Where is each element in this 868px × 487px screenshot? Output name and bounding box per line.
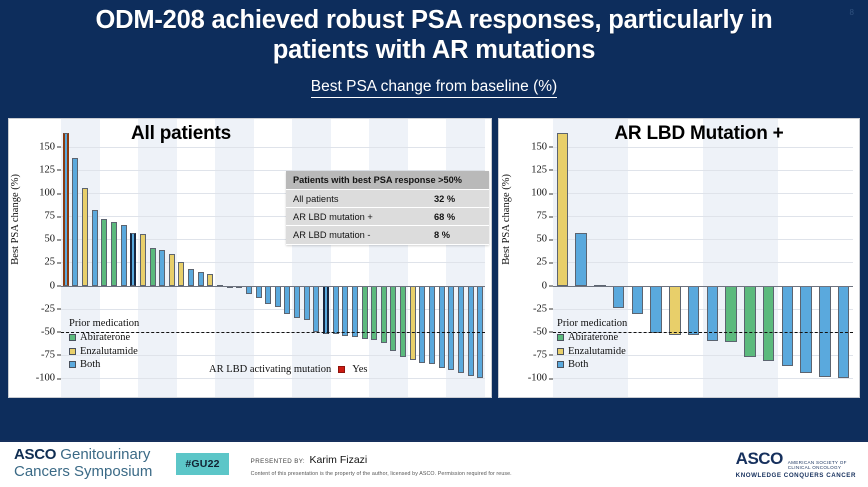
chart-bar — [256, 286, 262, 299]
legend-label-enzalutamide: Enzalutamide — [568, 346, 626, 357]
stats-row-value: 32 % — [427, 190, 489, 208]
stats-table-header: Patients with best PSA response >50% — [286, 171, 489, 190]
asco-sub-line-2: CLINICAL ONCOLOGY — [788, 465, 841, 470]
brand-line-2: Cancers Symposium — [14, 464, 152, 481]
gridline — [553, 239, 853, 240]
y-axis-tick: -25 — [41, 303, 61, 314]
chart-bar — [169, 254, 175, 285]
y-axis-tick: 75 — [537, 211, 554, 222]
slide-footer: ASCO Genitourinary Cancers Symposium #GU… — [0, 440, 868, 487]
chart-bar — [284, 286, 290, 315]
legend-item-both: Both — [557, 358, 627, 372]
chart-bar — [275, 286, 281, 307]
chart-bar — [688, 286, 700, 335]
y-axis-tick: -25 — [533, 303, 553, 314]
chart-bar — [207, 274, 213, 285]
page-title: ODM-208 achieved robust PSA responses, p… — [0, 6, 868, 65]
stats-row-value: 8 % — [427, 226, 489, 244]
chart-bar — [92, 210, 98, 286]
legend-item-enzalutamide: Enzalutamide — [69, 345, 139, 359]
y-axis-tick: 50 — [537, 234, 554, 245]
chart-bar — [557, 133, 569, 286]
chart-bar — [323, 286, 329, 334]
gridline — [553, 216, 853, 217]
table-row: AR LBD mutation +68 % — [286, 208, 489, 226]
chart-bar — [130, 233, 136, 286]
subtitle-wrap: Best PSA change from baseline (%) — [0, 78, 868, 98]
slide-root: ODM-208 achieved robust PSA responses, p… — [0, 0, 868, 487]
brand-asco: ASCO — [14, 446, 56, 463]
chart-bar — [613, 286, 625, 308]
chart-bar — [101, 219, 107, 286]
chart-bar — [410, 286, 416, 360]
legend-label-abiraterone: Abiraterone — [568, 332, 618, 343]
legend-swatch-both — [557, 361, 564, 368]
y-axis-tick: -50 — [41, 326, 61, 337]
asco-logo-block: ASCO AMERICAN SOCIETY OF CLINICAL ONCOLO… — [736, 448, 856, 478]
chart-bar — [381, 286, 387, 343]
chart-bar — [313, 286, 319, 332]
asco-subtitle: AMERICAN SOCIETY OF CLINICAL ONCOLOGY — [788, 459, 847, 470]
chart-bar — [159, 250, 165, 285]
legend-title: Prior medication — [557, 318, 627, 329]
chart-bar — [63, 133, 69, 286]
legend-item-enzalutamide: Enzalutamide — [557, 345, 627, 359]
asco-sub-line-1: AMERICAN SOCIETY OF — [788, 459, 847, 464]
y-axis-tick: 0 — [542, 280, 553, 291]
chart-bar — [342, 286, 348, 337]
y-axis-tick: 100 — [531, 188, 553, 199]
y-axis-tick: 75 — [45, 211, 62, 222]
mutation-legend-value: Yes — [352, 364, 367, 375]
legend-swatch-abiraterone — [69, 334, 76, 341]
legend-title: Prior medication — [69, 318, 139, 329]
legend-item-abiraterone: Abiraterone — [557, 331, 627, 345]
y-axis-tick: 125 — [531, 164, 553, 175]
legend-swatch-abiraterone — [557, 334, 564, 341]
gridline — [553, 147, 853, 148]
legend-swatch-enzalutamide — [557, 348, 564, 355]
legend-item-abiraterone: Abiraterone — [69, 331, 139, 345]
table-row: All patients32 % — [286, 190, 489, 208]
footer-divider — [0, 440, 868, 442]
mutation-legend-label: AR LBD activating mutation — [209, 364, 331, 375]
stats-row-value: 68 % — [427, 208, 489, 226]
legend-ar-lbd-mutation: AR LBD activating mutation Yes — [209, 364, 367, 375]
stats-row-label: AR LBD mutation - — [286, 226, 427, 244]
zero-baseline — [61, 286, 485, 287]
chart-bar — [744, 286, 756, 357]
asco-logo-row: ASCO AMERICAN SOCIETY OF CLINICAL ONCOLO… — [736, 448, 856, 470]
chart-bar — [439, 286, 445, 368]
hashtag-badge: #GU22 — [176, 453, 228, 475]
gridline — [61, 378, 485, 379]
y-axis-tick: 50 — [45, 234, 62, 245]
gridline — [553, 170, 853, 171]
legend-label-abiraterone: Abiraterone — [80, 332, 130, 343]
y-axis-tick: 150 — [39, 141, 61, 152]
gridline — [61, 147, 485, 148]
legend-swatch-enzalutamide — [69, 348, 76, 355]
asco-gu-brand: ASCO Genitourinary Cancers Symposium — [14, 447, 152, 481]
gridline — [553, 378, 853, 379]
chart-bar — [419, 286, 425, 364]
chart-bar — [800, 286, 812, 374]
gridline — [553, 193, 853, 194]
table-header-row: Patients with best PSA response >50% — [286, 171, 489, 190]
stats-row-label: AR LBD mutation + — [286, 208, 427, 226]
chart-bar — [188, 269, 194, 286]
table-row: AR LBD mutation -8 % — [286, 226, 489, 244]
chart-bar — [121, 225, 127, 285]
y-axis-tick: 150 — [531, 141, 553, 152]
copyright-disclaimer: Content of this presentation is the prop… — [251, 471, 512, 477]
y-axis-tick: -100 — [528, 373, 553, 384]
chart-bar — [333, 286, 339, 334]
legend-prior-medication-left: Prior medication Abiraterone Enzalutamid… — [69, 318, 139, 372]
y-axis-tick: -100 — [36, 373, 61, 384]
chart-bar — [725, 286, 737, 342]
y-axis-tick: 125 — [39, 164, 61, 175]
chart-bar — [448, 286, 454, 370]
chart-bar — [458, 286, 464, 374]
legend-swatch-both — [69, 361, 76, 368]
y-axis-label-right: Best PSA change (%) — [501, 174, 512, 265]
brand-line-1: ASCO Genitourinary — [14, 447, 152, 464]
legend-prior-medication-right: Prior medication Abiraterone Enzalutamid… — [557, 318, 627, 372]
y-axis-label-left: Best PSA change (%) — [10, 174, 21, 265]
legend-label-both: Both — [568, 359, 588, 370]
stats-row-label: All patients — [286, 190, 427, 208]
slide-number: 8 — [850, 8, 854, 17]
chart-bar — [400, 286, 406, 357]
y-axis-tick: -50 — [533, 326, 553, 337]
chart-bar — [352, 286, 358, 338]
presenter-name: Karim Fizazi — [310, 454, 368, 466]
legend-swatch-mutation-yes — [338, 366, 345, 373]
chart-bar — [198, 272, 204, 286]
chart-bar — [650, 286, 662, 333]
y-axis-tick: -75 — [533, 349, 553, 360]
y-axis-tick: 25 — [45, 257, 62, 268]
chart-bar — [669, 286, 681, 335]
y-axis-tick: 0 — [50, 280, 61, 291]
slide-subtitle: Best PSA change from baseline (%) — [311, 78, 557, 98]
chart-bar — [178, 262, 184, 286]
chart-panel-all-patients: All patients Best PSA change (%) 1501251… — [8, 118, 492, 398]
chart-bar — [782, 286, 794, 366]
chart-bar — [632, 286, 644, 315]
chart-bar — [294, 286, 300, 318]
chart-bar — [72, 158, 78, 286]
y-axis-tick: 100 — [39, 188, 61, 199]
legend-item-both: Both — [69, 358, 139, 372]
chart-bar — [265, 286, 271, 304]
y-axis-tick: 25 — [537, 257, 554, 268]
chart-bar — [763, 286, 775, 362]
legend-label-both: Both — [80, 359, 100, 370]
chart-bar — [111, 222, 117, 286]
chart-bar — [150, 248, 156, 286]
asco-wordmark: ASCO — [736, 448, 783, 468]
asco-tagline: KNOWLEDGE CONQUERS CANCER — [736, 472, 856, 479]
presented-by-label: PRESENTED BY: — [251, 458, 305, 465]
chart-bar — [140, 234, 146, 286]
presented-by-block: PRESENTED BY: Karim Fizazi Content of th… — [251, 450, 512, 477]
presenter-line: PRESENTED BY: Karim Fizazi — [251, 450, 512, 468]
psa-response-stats-table: Patients with best PSA response >50% All… — [286, 171, 489, 245]
title-block: ODM-208 achieved robust PSA responses, p… — [0, 6, 868, 98]
chart-bar — [575, 233, 587, 286]
gridline — [553, 262, 853, 263]
stats-table-body: All patients32 %AR LBD mutation +68 %AR … — [286, 190, 489, 245]
brand-genitourinary: Genitourinary — [56, 446, 150, 463]
chart-bar — [304, 286, 310, 320]
chart-bar — [82, 188, 88, 286]
chart-bar — [390, 286, 396, 352]
charts-container: All patients Best PSA change (%) 1501251… — [8, 118, 860, 398]
chart-bar — [429, 286, 435, 365]
legend-label-enzalutamide: Enzalutamide — [80, 346, 138, 357]
zero-baseline — [553, 286, 853, 287]
chart-panel-ar-lbd-mutation: AR LBD Mutation + Best PSA change (%) 15… — [498, 118, 860, 398]
y-axis-tick: -75 — [41, 349, 61, 360]
